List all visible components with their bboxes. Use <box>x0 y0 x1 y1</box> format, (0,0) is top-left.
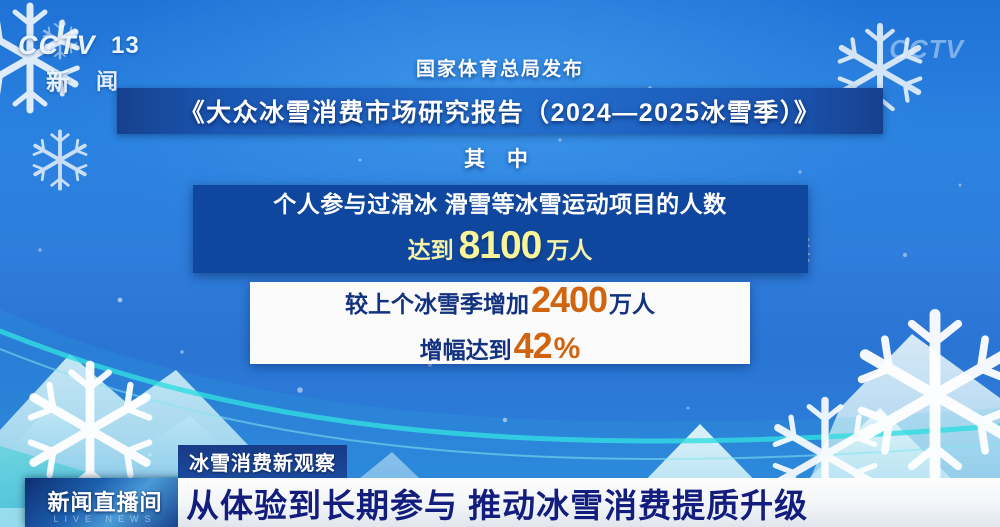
participants-number: 8100 <box>459 226 542 265</box>
broadcast-screenshot: CCTV 13 新 闻 CCTV 国家体育总局发布 《大众冰雪消费市场研究报告（… <box>0 0 1000 527</box>
cctv13-channel-logo: CCTV 13 新 闻 <box>14 26 154 96</box>
cctv-watermark: CCTV <box>889 34 964 65</box>
snowflake-decor-art <box>0 0 1000 527</box>
participants-stat-box: 个人参与过滑冰 滑雪等冰雪运动项目的人数 达到 8100 万人 <box>193 185 808 273</box>
cctv-wordmark: CCTV <box>18 30 96 61</box>
program-name-en: LIVE NEWS <box>53 514 156 524</box>
growth-percent-number: 42 <box>514 328 552 364</box>
report-title-band: 《大众冰雪消费市场研究报告（2024—2025冰雪季）》 <box>117 88 883 134</box>
headline-bar: 从体验到长期参与 推动冰雪消费提质升级 <box>178 478 1000 527</box>
growth-absolute-number: 2400 <box>531 282 607 318</box>
program-logo-box: 新闻直播间 LIVE NEWS <box>25 478 185 527</box>
growth-absolute-row: 较上个冰雪季增加 2400 万人 <box>345 282 655 318</box>
issuer-label: 国家体育总局发布 <box>0 54 1000 81</box>
infographic-panel: 国家体育总局发布 《大众冰雪消费市场研究报告（2024—2025冰雪季）》 其 … <box>0 54 1000 364</box>
topic-tag-label: 冰雪消费新观察 <box>189 447 336 476</box>
growth-absolute-prefix: 较上个冰雪季增加 <box>345 293 529 316</box>
channel-number: 13 <box>111 32 140 60</box>
topic-tag-box: 冰雪消费新观察 <box>178 445 347 478</box>
mountain-background-art <box>0 312 1000 527</box>
snow-particles <box>0 0 1000 527</box>
participants-value-row: 达到 8100 万人 <box>408 226 593 265</box>
report-title: 《大众冰雪消费市场研究报告（2024—2025冰雪季）》 <box>180 93 821 129</box>
growth-percent-symbol: % <box>554 334 581 364</box>
participants-prefix: 达到 <box>408 239 454 262</box>
growth-stat-box: 较上个冰雪季增加 2400 万人 增幅达到 42 % <box>250 282 750 364</box>
connector-label: 其 中 <box>0 143 1000 173</box>
growth-absolute-unit: 万人 <box>609 293 655 316</box>
participants-unit: 万人 <box>546 239 592 262</box>
channel-name-char-2: 闻 <box>96 64 119 96</box>
swoosh-curve-art <box>0 297 1000 527</box>
program-name-cn: 新闻直播间 <box>47 485 162 517</box>
growth-percent-row: 增幅达到 42 % <box>420 328 581 364</box>
channel-name-char-1: 新 <box>46 62 71 97</box>
headline-text: 从体验到长期参与 推动冰雪消费提质升级 <box>186 479 808 527</box>
participants-description: 个人参与过滑冰 滑雪等冰雪运动项目的人数 <box>273 193 726 216</box>
growth-percent-prefix: 增幅达到 <box>420 339 512 362</box>
